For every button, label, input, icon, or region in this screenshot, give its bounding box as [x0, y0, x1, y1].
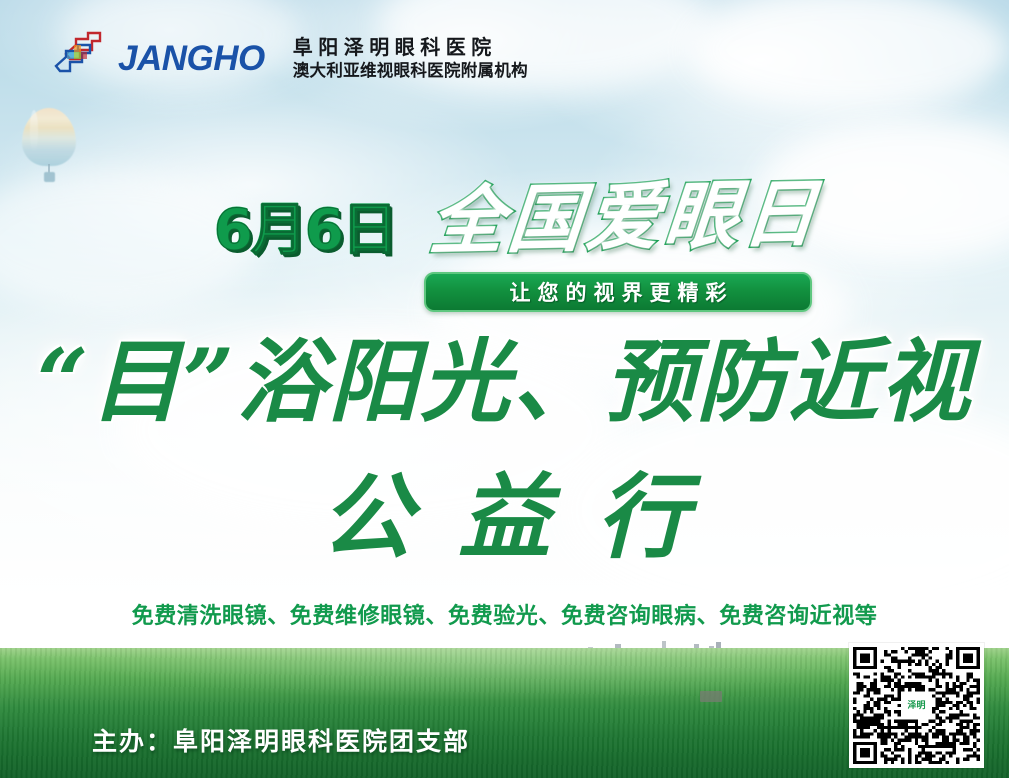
- poster-canvas: JANGHO 阜阳泽明眼科医院 澳大利亚维视眼科医院附属机构 6月6日 全国爱眼…: [0, 0, 1009, 778]
- slogan-text: 让您的视界更精彩: [503, 277, 734, 307]
- hospital-name: 阜阳泽明眼科医院: [293, 36, 528, 59]
- services-list: 免费清洗眼镜、免费维修眼镜、免费验光、免费咨询眼病、免费咨询近视等: [0, 598, 1009, 630]
- jangho-cross-logo-icon: [52, 30, 112, 86]
- hospital-affiliation: 澳大利亚维视眼科医院附属机构: [293, 61, 528, 80]
- park-bench-icon: [700, 691, 722, 702]
- headline-line-2: 公益行: [0, 465, 1009, 569]
- headline-line-1: “目”浴阳光、预防近视: [0, 330, 1009, 435]
- balloon-basket: [44, 172, 55, 182]
- hospital-name-block: 阜阳泽明眼科医院 澳大利亚维视眼科医院附属机构: [293, 36, 528, 80]
- hot-air-balloon-icon: [22, 108, 76, 186]
- jangho-wordmark: JANGHO: [118, 41, 265, 76]
- event-title: 全国爱眼日: [426, 168, 835, 268]
- qr-code-image[interactable]: 泽明: [853, 647, 980, 764]
- balloon-envelope: [22, 108, 76, 166]
- brand-header: JANGHO 阜阳泽明眼科医院 澳大利亚维视眼科医院附属机构: [52, 30, 528, 86]
- event-date: 6月6日: [214, 203, 396, 259]
- organizer-line: 主办：阜阳泽明眼科医院团支部: [92, 722, 470, 758]
- slogan-ribbon: 让您的视界更精彩: [424, 272, 812, 312]
- qr-code[interactable]: 泽明: [849, 643, 984, 768]
- qr-center-logo: 泽明: [904, 693, 930, 719]
